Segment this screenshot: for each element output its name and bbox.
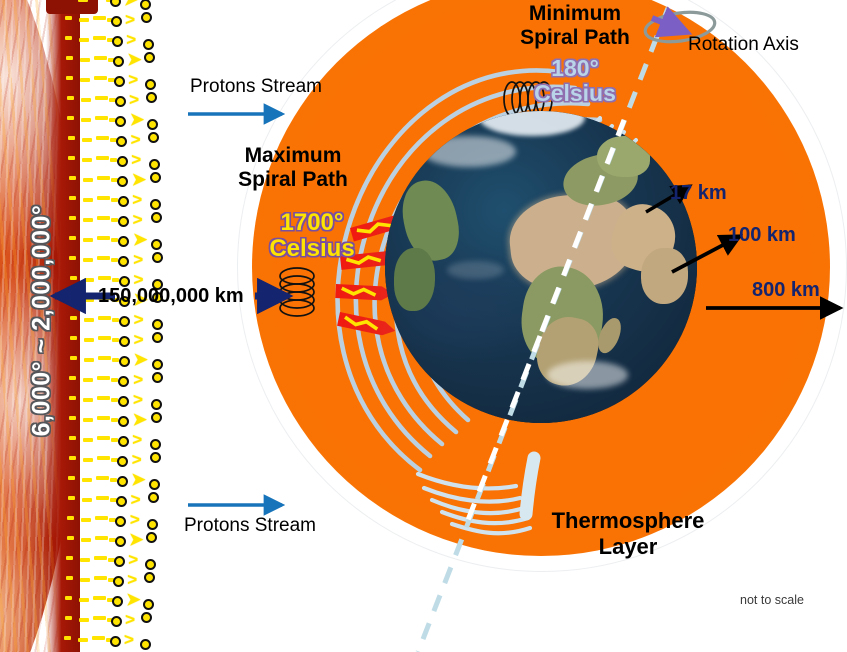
proton-particle — [115, 116, 126, 127]
proton-dash — [111, 258, 118, 262]
proton-dash — [80, 578, 90, 582]
proton-arrow-icon: > — [131, 155, 141, 165]
minimum-spiral-path-label: Minimum Spiral Path — [510, 2, 640, 49]
proton-arrow-icon: > — [133, 215, 143, 225]
proton-particle — [110, 0, 121, 7]
proton-arrow-icon: ➤ — [129, 535, 143, 545]
proton-dash — [97, 196, 110, 200]
proton-arrow-icon: ➤ — [124, 0, 138, 5]
protons-stream-label-top: Protons Stream — [190, 76, 322, 98]
proton-dash — [70, 316, 77, 320]
proton-dash — [67, 96, 74, 100]
proton-dash — [81, 518, 91, 522]
proton-particle — [141, 12, 152, 23]
proton-dash — [69, 396, 76, 400]
proton-dash — [93, 616, 106, 620]
proton-particle — [118, 436, 129, 447]
proton-dash — [95, 536, 108, 540]
earth-landmass-brazil — [394, 248, 435, 310]
maximum-temperature-label: 1700° Celsius — [258, 210, 366, 263]
earth-landmass-middle-east — [641, 248, 688, 304]
proton-dash — [68, 476, 75, 480]
proton-arrow-icon: ➤ — [131, 475, 145, 485]
proton-dash — [96, 136, 109, 140]
earth-cloud — [547, 361, 628, 389]
proton-arrow-icon: > — [131, 495, 141, 505]
proton-particle — [152, 252, 163, 263]
proton-dash — [94, 556, 107, 560]
proton-dash — [96, 156, 109, 160]
proton-particle — [151, 212, 162, 223]
proton-dash — [98, 356, 111, 360]
proton-particle — [112, 596, 123, 607]
proton-particle — [112, 36, 123, 47]
proton-dash — [66, 76, 73, 80]
proton-dash — [68, 156, 75, 160]
proton-dash — [84, 318, 94, 322]
proton-particle — [147, 519, 158, 530]
proton-dash — [81, 98, 91, 102]
proton-arrow-icon: > — [128, 555, 138, 565]
proton-particle-field: ➤>>➤>>➤>>➤>>➤>>➤>>➤>>➤>>➤>>➤>>➤>> — [60, 0, 170, 652]
proton-dash — [94, 76, 107, 80]
proton-particle — [118, 236, 129, 247]
earth-globe-icon — [385, 111, 697, 423]
proton-dash — [83, 398, 93, 402]
proton-particle — [113, 56, 124, 67]
proton-dash — [65, 616, 72, 620]
proton-dash — [66, 556, 73, 560]
proton-dash — [67, 536, 74, 540]
proton-particle — [114, 556, 125, 567]
proton-dash — [97, 416, 110, 420]
proton-particle — [118, 416, 129, 427]
proton-particle — [144, 52, 155, 63]
proton-dash — [64, 636, 71, 640]
proton-particle — [117, 476, 128, 487]
proton-arrow-icon: > — [134, 315, 144, 325]
proton-dash — [95, 96, 108, 100]
minimum-temperature-label: 180° Celsius — [524, 56, 626, 107]
proton-particle — [119, 316, 130, 327]
proton-particle — [117, 456, 128, 467]
proton-dash — [69, 436, 76, 440]
proton-particle — [148, 492, 159, 503]
proton-dash — [69, 176, 76, 180]
maximum-spiral-path-label: Maximum Spiral Path — [228, 144, 358, 191]
proton-dash — [83, 198, 93, 202]
proton-dash — [67, 116, 74, 120]
proton-dash — [69, 216, 76, 220]
proton-arrow-icon: > — [127, 575, 137, 585]
proton-dash — [82, 498, 92, 502]
proton-arrow-icon: > — [133, 395, 143, 405]
proton-dash — [70, 356, 77, 360]
proton-dash — [83, 178, 93, 182]
proton-particle — [111, 16, 122, 27]
proton-dash — [83, 258, 93, 262]
proton-arrow-icon: > — [132, 455, 142, 465]
proton-dash — [68, 136, 75, 140]
proton-particle — [150, 172, 161, 183]
proton-particle — [151, 399, 162, 410]
proton-dash — [70, 276, 77, 280]
proton-dash — [83, 238, 93, 242]
proton-dash — [94, 56, 107, 60]
proton-particle — [149, 159, 160, 170]
proton-particle — [151, 412, 162, 423]
altitude-label-17km: 17 km — [670, 182, 727, 205]
proton-arrow-icon: ➤ — [133, 415, 147, 425]
proton-arrow-icon: > — [133, 275, 143, 285]
proton-particle — [118, 396, 129, 407]
proton-particle — [148, 132, 159, 143]
proton-dash — [80, 558, 90, 562]
proton-arrow-icon: > — [132, 195, 142, 205]
proton-particle — [119, 336, 130, 347]
proton-dash — [98, 336, 111, 340]
proton-particle — [113, 576, 124, 587]
proton-dash — [69, 196, 76, 200]
proton-dash — [65, 596, 72, 600]
proton-dash — [111, 438, 118, 442]
proton-arrow-icon: > — [124, 635, 134, 645]
proton-particle — [118, 376, 129, 387]
proton-dash — [79, 618, 89, 622]
proton-dash — [97, 216, 110, 220]
proton-dash — [66, 576, 73, 580]
proton-arrow-icon: > — [125, 615, 135, 625]
protons-stream-label-bottom: Protons Stream — [184, 515, 316, 537]
proton-dash — [97, 436, 110, 440]
proton-particle — [140, 639, 151, 650]
proton-dash — [94, 576, 107, 580]
proton-particle — [152, 359, 163, 370]
proton-arrow-icon: ➤ — [133, 355, 147, 365]
proton-particle — [141, 612, 152, 623]
earth-cloud — [422, 136, 516, 167]
rotation-axis-label: Rotation Axis — [688, 34, 799, 56]
proton-dash — [112, 338, 119, 342]
proton-particle — [116, 496, 127, 507]
proton-arrow-icon: ➤ — [127, 55, 141, 65]
proton-dash — [83, 438, 93, 442]
proton-dash — [68, 496, 75, 500]
proton-dash — [95, 516, 108, 520]
proton-particle — [111, 616, 122, 627]
proton-arrow-icon: ➤ — [130, 115, 144, 125]
altitude-label-100km: 100 km — [728, 224, 796, 247]
proton-dash — [98, 276, 111, 280]
proton-dash — [97, 236, 110, 240]
proton-particle — [146, 92, 157, 103]
proton-particle — [152, 332, 163, 343]
proton-dash — [96, 496, 109, 500]
proton-arrow-icon: > — [129, 95, 139, 105]
proton-dash — [78, 638, 88, 642]
proton-dash — [83, 418, 93, 422]
proton-arrow-icon: > — [126, 35, 136, 45]
proton-particle — [150, 439, 161, 450]
proton-particle — [116, 136, 127, 147]
proton-dash — [111, 378, 118, 382]
earth-landmass-north-europe — [597, 136, 650, 177]
proton-dash — [69, 376, 76, 380]
proton-arrow-icon: ➤ — [132, 175, 146, 185]
proton-dash — [80, 58, 90, 62]
proton-dash — [82, 158, 92, 162]
proton-particle — [143, 39, 154, 50]
proton-dash — [111, 398, 118, 402]
proton-particle — [145, 559, 156, 570]
sun-temperature-label: 6,000° ~ 2,000,000° — [28, 191, 57, 451]
proton-particle — [150, 199, 161, 210]
proton-dash — [83, 218, 93, 222]
proton-dash — [79, 38, 89, 42]
proton-dash — [97, 176, 110, 180]
proton-dash — [96, 476, 109, 480]
proton-dash — [92, 636, 105, 640]
proton-particle — [143, 599, 154, 610]
proton-particle — [118, 196, 129, 207]
proton-particle — [110, 636, 121, 647]
proton-dash — [81, 118, 91, 122]
proton-dash — [82, 138, 92, 142]
proton-dash — [111, 238, 118, 242]
proton-particle — [114, 76, 125, 87]
proton-arrow-icon: > — [132, 435, 142, 445]
proton-dash — [111, 218, 118, 222]
proton-particle — [152, 372, 163, 383]
not-to-scale-note: not to scale — [740, 593, 804, 607]
proton-arrow-icon: > — [134, 335, 144, 345]
diagram-canvas: 6,000° ~ 2,000,000° ➤>>➤>>➤>>➤>>➤>>➤>>➤>… — [0, 0, 847, 652]
proton-particle — [115, 516, 126, 527]
proton-dash — [112, 278, 119, 282]
proton-particle — [119, 356, 130, 367]
proton-dash — [93, 36, 106, 40]
proton-dash — [97, 376, 110, 380]
thermosphere-layer-label: Thermosphere Layer — [546, 508, 710, 560]
proton-particle — [149, 479, 160, 490]
proton-dash — [70, 296, 77, 300]
altitude-label-800km: 800 km — [752, 279, 820, 302]
proton-particle — [115, 96, 126, 107]
proton-dash — [81, 538, 91, 542]
proton-particle — [151, 239, 162, 250]
proton-arrow-icon: > — [133, 375, 143, 385]
proton-dash — [84, 278, 94, 282]
proton-arrow-icon: > — [131, 135, 141, 145]
proton-dash — [69, 416, 76, 420]
proton-dash — [112, 318, 119, 322]
proton-dash — [111, 198, 118, 202]
proton-dash — [97, 256, 110, 260]
proton-dash — [65, 36, 72, 40]
proton-dash — [93, 16, 106, 20]
proton-dash — [78, 0, 88, 2]
proton-dash — [111, 418, 118, 422]
proton-dash — [82, 478, 92, 482]
proton-dash — [80, 78, 90, 82]
proton-dash — [67, 516, 74, 520]
proton-particle — [117, 176, 128, 187]
proton-dash — [95, 116, 108, 120]
proton-particle — [117, 156, 128, 167]
proton-particle — [152, 319, 163, 330]
proton-dash — [84, 338, 94, 342]
proton-arrow-icon: > — [130, 515, 140, 525]
proton-dash — [69, 236, 76, 240]
sun-earth-distance-label: 150,000,000 km — [98, 285, 244, 308]
proton-particle — [147, 119, 158, 130]
proton-dash — [79, 18, 89, 22]
proton-dash — [97, 456, 110, 460]
proton-arrow-icon: ➤ — [126, 595, 140, 605]
proton-arrow-icon: > — [125, 15, 135, 25]
proton-particle — [150, 452, 161, 463]
proton-particle — [118, 256, 129, 267]
proton-particle — [146, 532, 157, 543]
proton-arrow-icon: ➤ — [133, 235, 147, 245]
proton-particle — [140, 0, 151, 10]
proton-dash — [84, 298, 94, 302]
proton-arrow-icon: > — [128, 75, 138, 85]
proton-dash — [79, 598, 89, 602]
proton-dash — [69, 256, 76, 260]
proton-dash — [70, 336, 77, 340]
proton-dash — [98, 316, 111, 320]
proton-particle — [115, 536, 126, 547]
proton-dash — [69, 456, 76, 460]
proton-particle — [145, 79, 156, 90]
proton-dash — [66, 56, 73, 60]
proton-dash — [65, 16, 72, 20]
proton-dash — [84, 358, 94, 362]
proton-dash — [112, 358, 119, 362]
proton-dash — [93, 596, 106, 600]
proton-arrow-icon: > — [133, 255, 143, 265]
proton-dash — [83, 458, 93, 462]
proton-particle — [144, 572, 155, 583]
earth-cloud — [447, 261, 503, 280]
proton-dash — [97, 396, 110, 400]
proton-particle — [118, 216, 129, 227]
proton-dash — [83, 378, 93, 382]
